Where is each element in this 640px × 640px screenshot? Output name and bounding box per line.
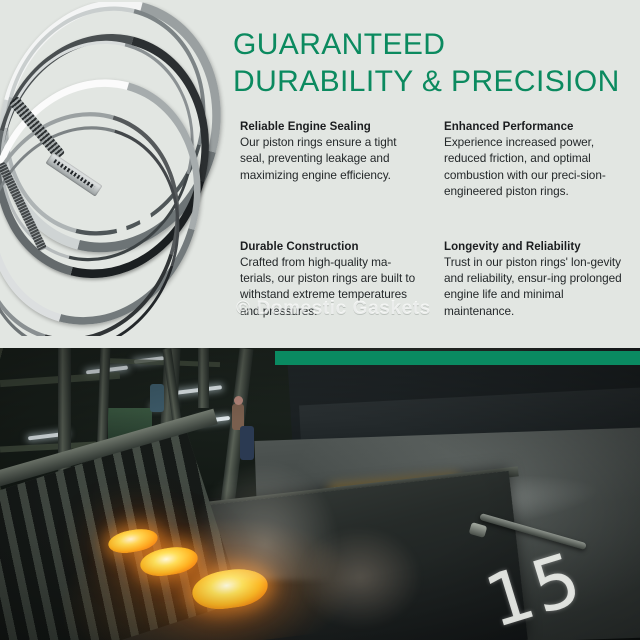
headline-line-1: GUARANTEED: [233, 28, 445, 61]
feature-durable-construction: Durable Construction Crafted from high-q…: [240, 241, 420, 320]
feature-body: Experience increased power, reduced fric…: [444, 134, 624, 200]
smoke-plume: [300, 528, 420, 628]
feature-body: Trust in our piston rings' lon-gevity an…: [444, 254, 624, 320]
info-panel: GUARANTEED DURABILITY & PRECISION Reliab…: [0, 0, 640, 348]
worker-silhouette: [150, 384, 164, 412]
headline: GUARANTEED DURABILITY & PRECISION: [233, 27, 633, 100]
feature-enhanced-performance: Enhanced Performance Experience increase…: [444, 121, 624, 200]
worker-head: [234, 396, 243, 405]
feature-longevity-and-reliability: Longevity and Reliability Trust in our p…: [444, 241, 624, 320]
poster-root: GUARANTEED DURABILITY & PRECISION Reliab…: [0, 0, 640, 640]
worker-silhouette: [240, 426, 254, 460]
feature-grid: Reliable Engine Sealing Our piston rings…: [240, 121, 630, 319]
feature-reliable-engine-sealing: Reliable Engine Sealing Our piston rings…: [240, 121, 420, 200]
feature-body: Our piston rings ensure a tight seal, pr…: [240, 134, 420, 183]
feature-title: Longevity and Reliability: [444, 241, 624, 253]
factory-photo: [0, 348, 640, 640]
press-column: [198, 348, 209, 408]
feature-title: Reliable Engine Sealing: [240, 121, 420, 133]
green-accent-bar: [275, 351, 640, 365]
piston-rings-product-image: [0, 2, 234, 336]
feature-title: Enhanced Performance: [444, 121, 624, 133]
feature-body: Crafted from high-quality ma-terials, ou…: [240, 254, 420, 320]
feature-title: Durable Construction: [240, 241, 420, 253]
headline-line-2: DURABILITY & PRECISION: [233, 64, 633, 101]
